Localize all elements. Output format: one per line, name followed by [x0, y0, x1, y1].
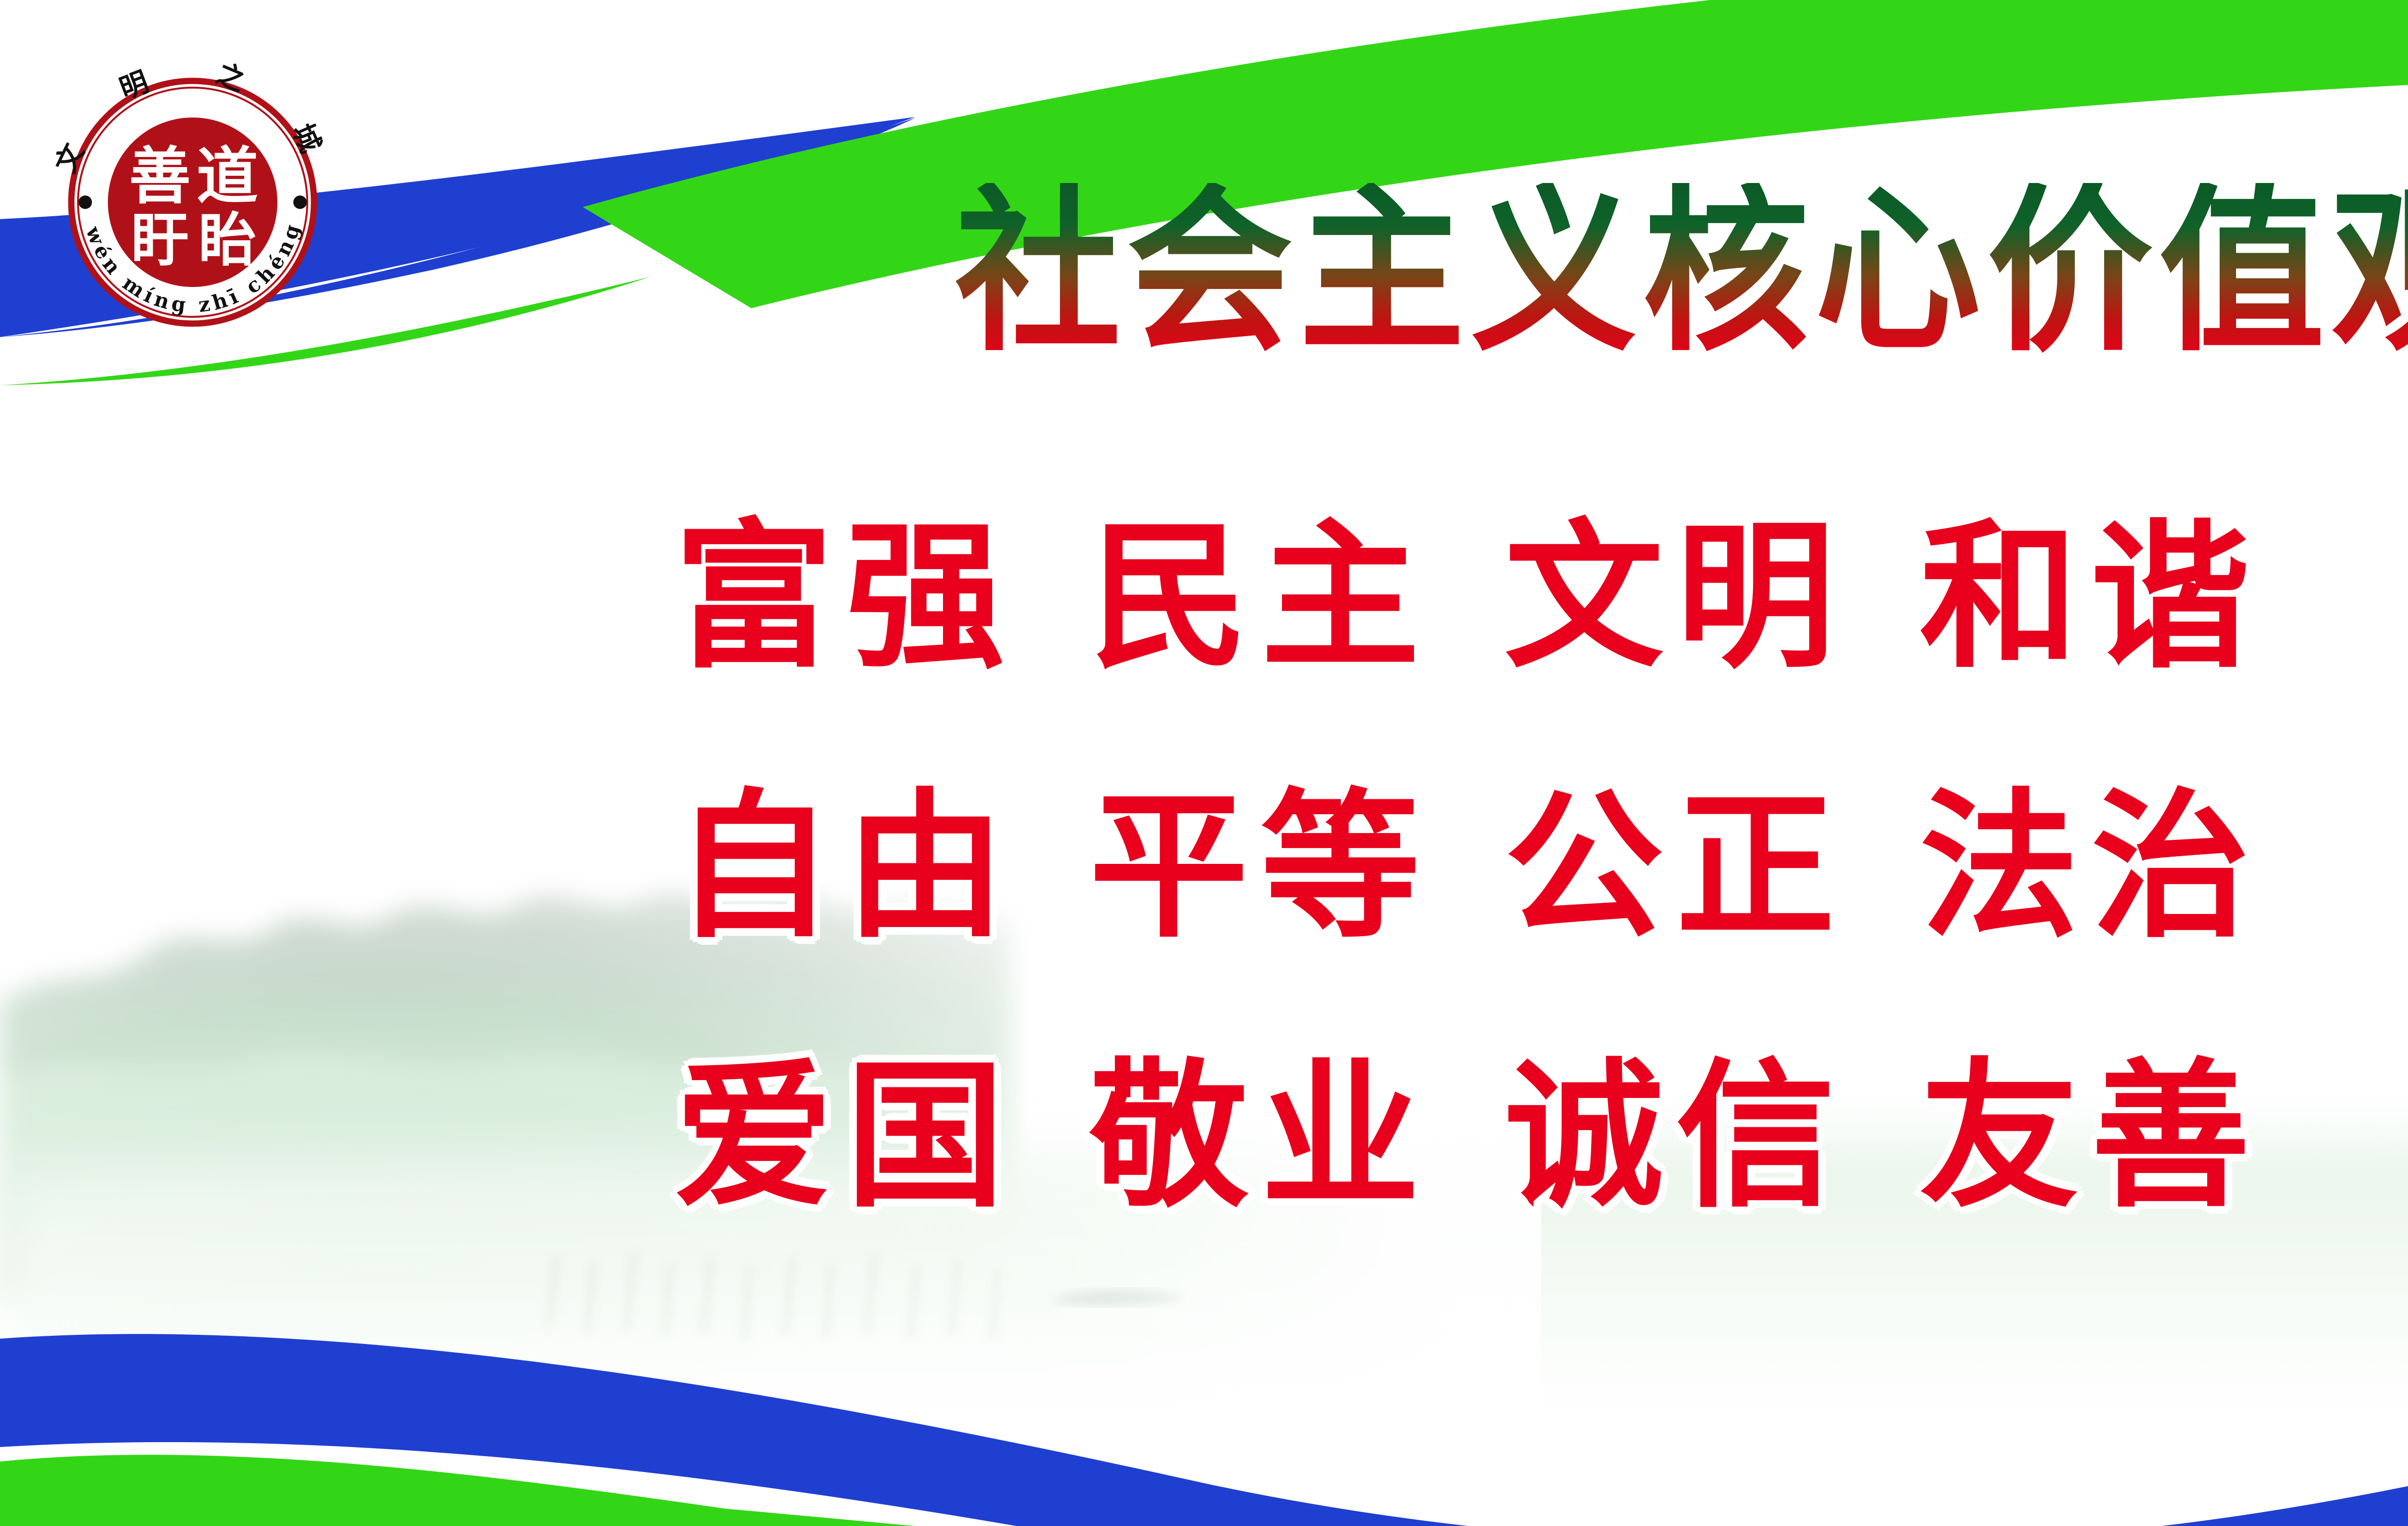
- value-word: 民主: [1089, 518, 1432, 677]
- logo-inner-char-2: 道: [196, 141, 258, 212]
- ribbon-green-bottom-left-2: [0, 1483, 915, 1526]
- value-word: 和谐: [1920, 518, 2263, 677]
- value-word: 公正: [1505, 787, 1847, 946]
- value-word: 文明: [1505, 518, 1847, 677]
- value-row-2: 自由 平等 公正 法治: [674, 732, 2408, 1002]
- value-word: 法治: [1920, 787, 2263, 946]
- value-word: 爱国: [674, 1057, 1017, 1216]
- page-title: 社会主义核心价值观: [955, 183, 2408, 361]
- value-word: 富强: [674, 518, 1017, 677]
- value-row-3: 爱国 敬业 诚信 友善: [674, 1002, 2408, 1271]
- logo-inner-char-1: 善: [129, 141, 191, 212]
- logo-dot-right: [293, 196, 307, 209]
- value-word: 诚信: [1505, 1057, 1847, 1216]
- value-word: 敬业: [1089, 1057, 1432, 1216]
- value-word: 友善: [1920, 1057, 2263, 1216]
- main-title-row: 社会主义核心价值观: [790, 169, 2408, 376]
- core-values-list: 富强 民主 文明 和谐 自由 平等 公正 法治 爱国 敬业 诚信 友善: [674, 462, 2408, 1271]
- value-row-1: 富强 民主 文明 和谐: [674, 462, 2408, 732]
- socialist-core-values-banner: 社会主义核心价值观 富强 民主 文明 和谐 自由 平等 公正 法治 爱国 敬业 …: [0, 0, 2408, 1526]
- city-logo: 文 明 之 城 wén míng zhī chéng 善 道 盱 眙: [39, 10, 347, 385]
- value-word: 自由: [674, 787, 1017, 946]
- value-word: 平等: [1089, 787, 1432, 946]
- logo-inner-char-4: 眙: [198, 207, 256, 274]
- logo-inner-char-3: 盱: [131, 207, 189, 274]
- logo-dot-left: [79, 196, 92, 209]
